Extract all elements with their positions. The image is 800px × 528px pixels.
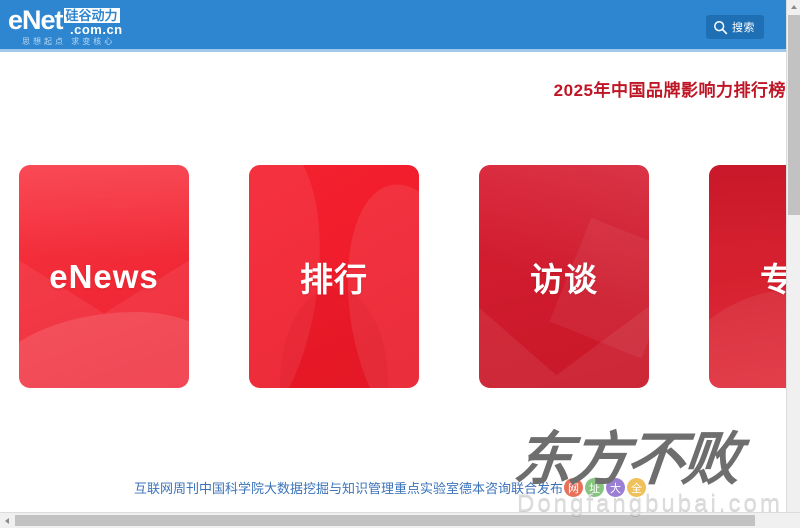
card-label: 专题 [760,253,786,301]
horizontal-scrollbar-thumb[interactable] [15,515,755,526]
scroll-left-arrow-icon[interactable] [0,513,14,528]
scroll-up-arrow-icon[interactable] [787,0,800,14]
logo-domain: .com.cn [70,22,123,37]
category-card-interview[interactable]: 访谈 [479,165,649,388]
logo-tagline: 思想起点 求变核心 [22,36,115,47]
search-label: 搜索 [732,19,755,35]
logo-letter-net: Net [22,5,63,35]
publisher-text[interactable]: 互联网周刊中国科学院大数据挖掘与知识管理重点实验室德本咨询联合发布 [134,478,563,497]
logo-cjk-block: 硅谷动力 [64,8,120,23]
category-card-ranking[interactable]: 排行 [249,165,419,388]
logo-letter-e: e [8,5,22,35]
publisher-line: 互联网周刊中国科学院大数据挖掘与知识管理重点实验室德本咨询联合发布 网 址 大 … [134,478,648,497]
badge-da[interactable]: 大 [606,478,625,497]
horizontal-scrollbar[interactable] [0,512,800,528]
search-icon [713,20,728,35]
page-viewport: eNet硅谷动力 .com.cn 思想起点 求变核心 搜索 2025年中国品牌影… [0,0,786,512]
badge-wang[interactable]: 网 [564,478,583,497]
badge-quan[interactable]: 全 [627,478,646,497]
site-header: eNet硅谷动力 .com.cn 思想起点 求变核心 搜索 [0,0,786,52]
badge-zhi[interactable]: 址 [585,478,604,497]
page-headline: 2025年中国品牌影响力排行榜 [554,76,786,101]
site-logo[interactable]: eNet硅谷动力 .com.cn 思想起点 求变核心 [8,6,188,46]
category-card-strip: eNews 排行 访谈 专题 [19,165,786,388]
card-label: 排行 [300,253,368,301]
card-label: eNews [49,258,159,296]
directory-badges: 网 址 大 全 [564,478,648,497]
search-button[interactable]: 搜索 [706,15,764,39]
card-label: 访谈 [530,253,598,301]
vertical-scrollbar[interactable] [786,0,800,512]
category-card-special[interactable]: 专题 [709,165,786,388]
category-card-enews[interactable]: eNews [19,165,189,388]
vertical-scrollbar-thumb[interactable] [788,15,800,215]
